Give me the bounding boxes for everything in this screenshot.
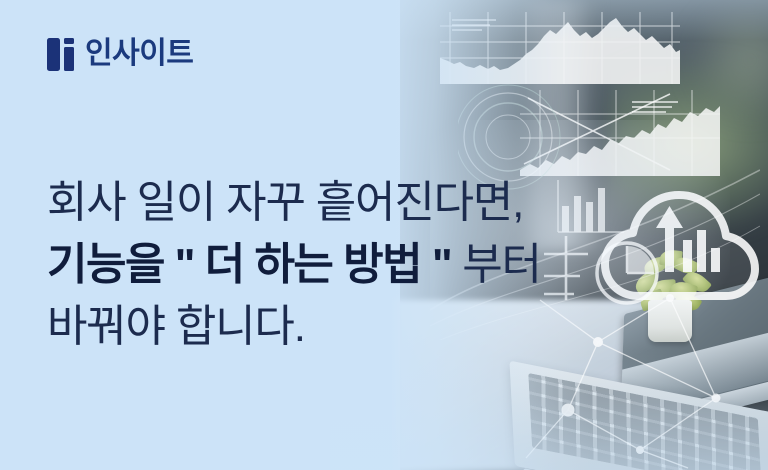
- brand-wordmark: 인사이트: [85, 39, 193, 69]
- headline-line-2-strong: 기능을 " 더 하는 방법 ": [47, 240, 451, 289]
- headline-block: 회사 일이 자꾸 흩어진다면, 기능을 " 더 하는 방법 " 부터 바꿔야 합…: [47, 172, 607, 358]
- headline-line-2-tail: 부터: [451, 240, 541, 289]
- headline-line-1: 회사 일이 자꾸 흩어진다면,: [47, 172, 607, 234]
- headline-line-2: 기능을 " 더 하는 방법 " 부터: [47, 234, 607, 296]
- headline-line-3: 바꿔야 합니다.: [47, 296, 607, 358]
- brand-logo[interactable]: 인사이트: [47, 36, 193, 71]
- banner-content: 인사이트 회사 일이 자꾸 흩어진다면, 기능을 " 더 하는 방법 " 부터 …: [0, 0, 768, 470]
- insight-promo-banner: 인사이트 회사 일이 자꾸 흩어진다면, 기능을 " 더 하는 방법 " 부터 …: [0, 0, 768, 470]
- insight-bars-logo-icon: [47, 36, 74, 71]
